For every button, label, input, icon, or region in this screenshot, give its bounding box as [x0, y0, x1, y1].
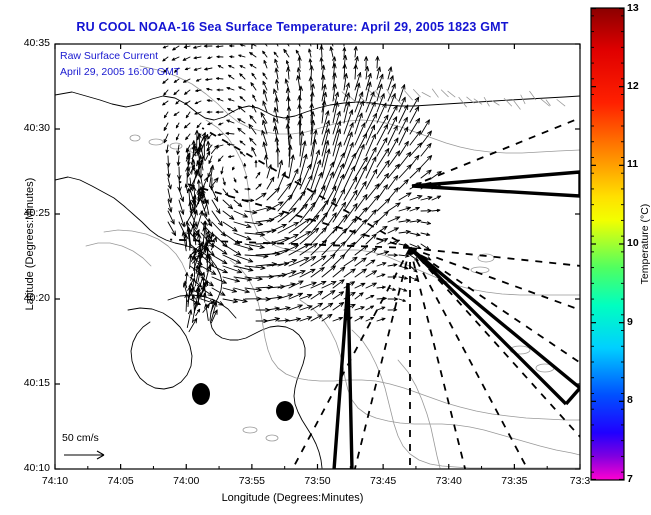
colorbar-tick-label-1: 12: [627, 80, 651, 92]
figure-panel: RU COOL NOAA-16 Sea Surface Temperature:…: [0, 0, 651, 515]
x-tick-label-7: 73:35: [484, 475, 544, 487]
y-tick-label-4: 40:15: [0, 377, 50, 389]
colorbar-tick-label-3: 10: [627, 237, 651, 249]
colorbar-tick-label-6: 7: [627, 473, 651, 485]
station-marker-1: [192, 383, 210, 405]
y-tick-label-0: 40:35: [0, 37, 50, 49]
y-axis-label: Latitude (Degrees:Minutes): [24, 154, 36, 334]
colorbar-tick-label-4: 9: [627, 316, 651, 328]
x-tick-label-2: 74:00: [156, 475, 216, 487]
colorbar-tick-label-0: 13: [627, 2, 651, 14]
colorbar-tick-label-5: 8: [627, 394, 651, 406]
x-axis-label: Longitude (Degrees:Minutes): [0, 492, 585, 504]
annotation-raw-surface-current: Raw Surface Current: [60, 50, 158, 62]
x-tick-label-1: 74:05: [91, 475, 151, 487]
x-tick-label-4: 73:50: [288, 475, 348, 487]
annotation-timestamp: April 29, 2005 16:00 GMT: [60, 66, 180, 78]
station-marker-2: [276, 401, 294, 421]
scale-bar-label: 50 cm/s: [62, 432, 99, 444]
x-tick-label-5: 73:45: [353, 475, 413, 487]
colorbar-tick-label-2: 11: [627, 158, 651, 170]
y-tick-label-2: 40:25: [0, 207, 50, 219]
y-tick-label-3: 40:20: [0, 292, 50, 304]
x-tick-label-8: 73:3: [550, 475, 610, 487]
x-tick-label-6: 73:40: [419, 475, 479, 487]
y-tick-label-5: 40:10: [0, 462, 50, 474]
x-tick-label-3: 73:55: [222, 475, 282, 487]
y-tick-label-1: 40:30: [0, 122, 50, 134]
x-tick-label-0: 74:10: [25, 475, 85, 487]
